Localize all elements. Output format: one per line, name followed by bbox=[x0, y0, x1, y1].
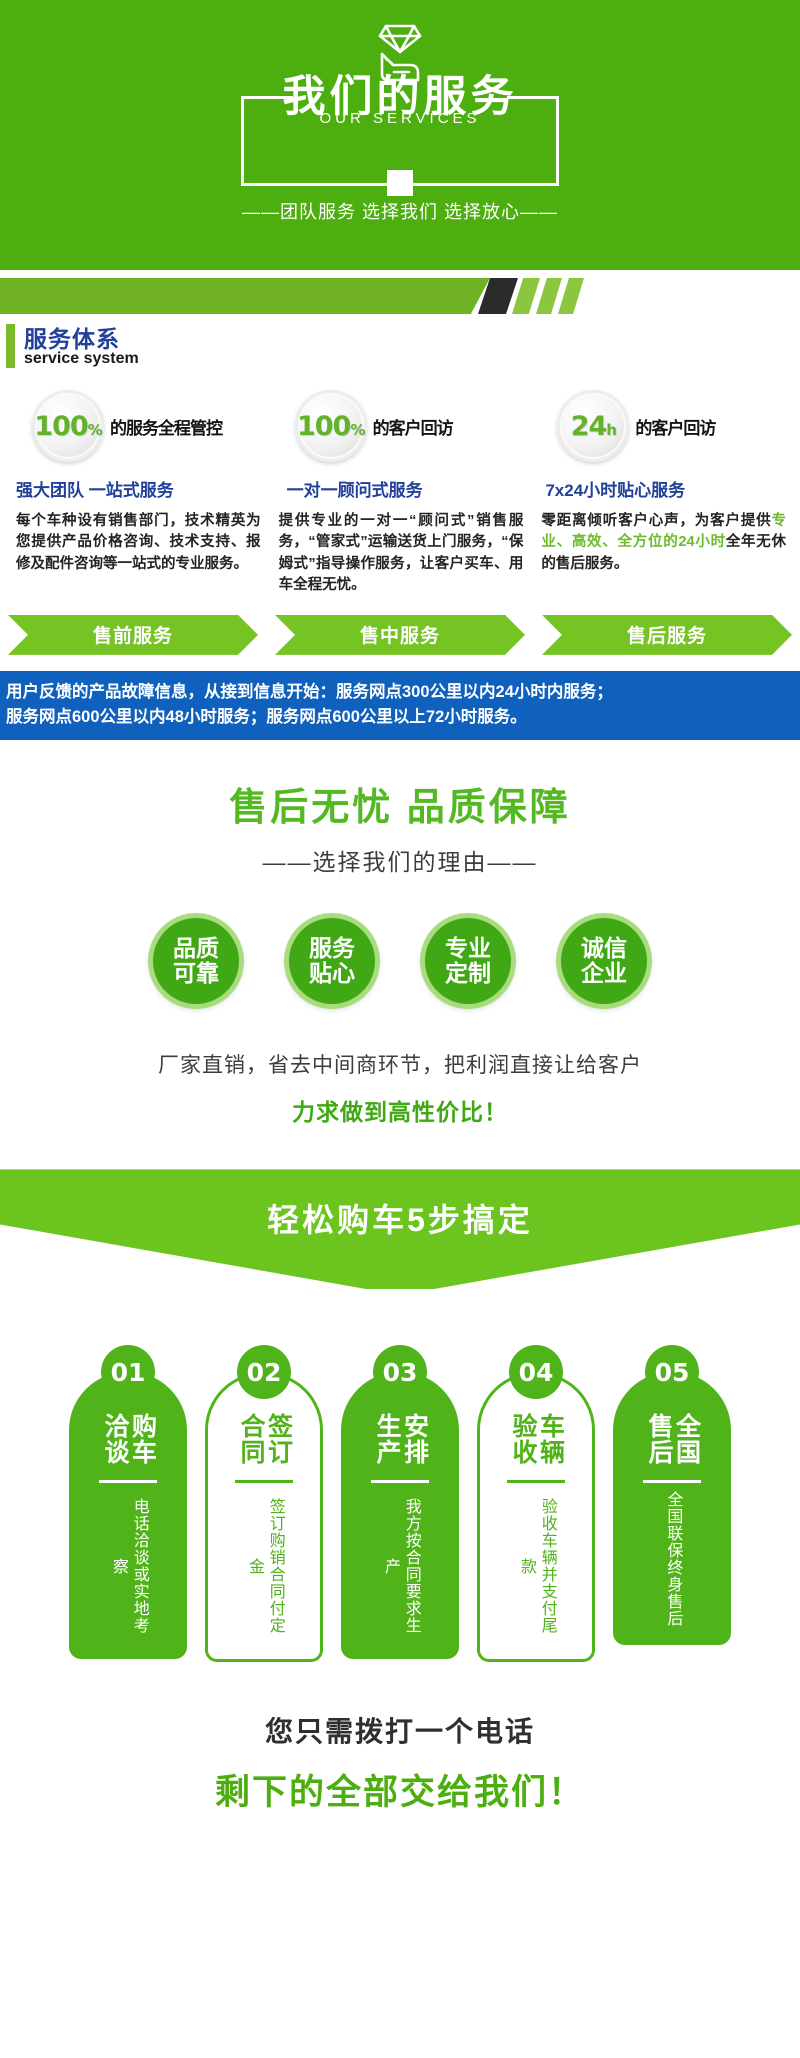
step-body-5: 全国售后 全国联保终身售后 bbox=[613, 1372, 731, 1645]
arrow-banner-label: 轻松购车5步搞定 bbox=[267, 1195, 533, 1241]
service-system-decor-bar bbox=[0, 278, 800, 314]
step-title-3: 安排生产 bbox=[373, 1408, 428, 1470]
decor-bar-green bbox=[0, 278, 450, 314]
step-body-1: 购车洽谈 电话洽谈或实地考察 bbox=[69, 1372, 187, 1659]
hero-frame-notch bbox=[387, 170, 413, 196]
service-column-3: 24h 的客户回访 7x24小时贴心服务 零距离倾听客户心声，为客户提供专业、高… bbox=[531, 388, 794, 597]
section-title-cn: 服务体系 bbox=[24, 320, 120, 354]
guarantee-title: 售后无忧 品质保障 bbox=[0, 776, 800, 831]
service-column-2: 100% 的客户回访 一对一顾问式服务 提供专业的一对一“顾问式”销售服务，“管… bbox=[269, 388, 532, 597]
metric-badge-caption-1: 的服务全程管控 bbox=[110, 414, 222, 439]
step-desc-5: 全国联保终身售后 bbox=[662, 1491, 683, 1627]
purchase-step-1[interactable]: 01 购车洽谈 电话洽谈或实地考察 bbox=[69, 1345, 187, 1662]
step-divider-1 bbox=[99, 1480, 157, 1483]
service-column-body-2: 提供专业的一对一“顾问式”销售服务，“管家式”运输送货上门服务，“保姆式”指导操… bbox=[273, 511, 528, 597]
metric-badge-caption-2: 的客户回访 bbox=[373, 414, 453, 439]
section-title-en: service system bbox=[24, 350, 139, 368]
guarantee-circle-1: 品质 可靠 bbox=[148, 913, 244, 1009]
pitch-line-2: 力求做到高性价比！ bbox=[0, 1093, 800, 1127]
step-desc-3: 我方按合同要求生产 bbox=[379, 1491, 421, 1641]
purchase-step-2[interactable]: 02 签订合同 签订购销合同付定金 bbox=[205, 1345, 323, 1662]
page-subtitle: OUR SERVICES bbox=[319, 110, 480, 127]
body-text-pre: 零距离倾听客户心声，为客户提供 bbox=[541, 513, 771, 529]
metric-badge-value-2: 100% bbox=[297, 411, 364, 442]
guarantee-circle-2: 服务 贴心 bbox=[284, 913, 380, 1009]
chevron-label-1: 售前服务 bbox=[93, 621, 173, 648]
step-title-4: 车辆验收 bbox=[509, 1408, 564, 1470]
guarantee-circle-4: 诚信 企业 bbox=[556, 913, 652, 1009]
decor-stripe-green-3 bbox=[558, 278, 584, 314]
step-number-2: 02 bbox=[237, 1345, 291, 1399]
step-body-2: 签订合同 签订购销合同付定金 bbox=[205, 1372, 323, 1662]
service-column-body-1: 每个车种设有销售部门，技术精英为您提供产品价格咨询、技术支持、报修及配件咨询等一… bbox=[10, 511, 265, 575]
footer-line-2: 剩下的全部交给我们！ bbox=[0, 1764, 800, 1815]
purchase-step-5[interactable]: 05 全国售后 全国联保终身售后 bbox=[613, 1345, 731, 1662]
circle-line-2a: 服务 bbox=[309, 936, 355, 962]
step-body-3: 安排生产 我方按合同要求生产 bbox=[341, 1372, 459, 1659]
badge-row-1: 100% 的服务全程管控 bbox=[10, 388, 265, 464]
service-system-heading: 服务体系 service system bbox=[0, 322, 800, 374]
purchase-steps-arrow-banner: 轻松购车5步搞定 bbox=[0, 1169, 800, 1289]
chevron-pre-sales[interactable]: 售前服务 bbox=[8, 615, 258, 655]
service-phase-chevrons: 售前服务 售中服务 售后服务 bbox=[0, 615, 800, 655]
badge-row-2: 100% 的客户回访 bbox=[273, 388, 528, 464]
pitch-line-1: 厂家直销，省去中间商环节，把利润直接让给客户 bbox=[0, 1049, 800, 1079]
response-time-notice: 用户反馈的产品故障信息，从接到信息开始：服务网点300公里以内24小时内服务； … bbox=[0, 671, 800, 741]
guarantee-subtitle: ——选择我们的理由—— bbox=[0, 843, 800, 877]
step-title-5: 全国售后 bbox=[645, 1408, 700, 1470]
hero-tagline: ——团队服务 选择我们 选择放心—— bbox=[242, 198, 558, 224]
guarantee-circle-3: 专业 定制 bbox=[420, 913, 516, 1009]
purchase-step-3[interactable]: 03 安排生产 我方按合同要求生产 bbox=[341, 1345, 459, 1662]
purchase-step-4[interactable]: 04 车辆验收 验收车辆并支付尾款 bbox=[477, 1345, 595, 1662]
metric-badge-value-1: 100% bbox=[34, 411, 101, 442]
purchase-steps: 01 购车洽谈 电话洽谈或实地考察 02 签订合同 签订购销合同付定金 03 安… bbox=[0, 1345, 800, 1662]
decor-stripe-green-2 bbox=[536, 278, 562, 314]
guarantee-circles: 品质 可靠 服务 贴心 专业 定制 诚信 企业 bbox=[0, 913, 800, 1009]
step-body-4: 车辆验收 验收车辆并支付尾款 bbox=[477, 1372, 595, 1662]
notice-line-1: 用户反馈的产品故障信息，从接到信息开始：服务网点300公里以内24小时内服务； bbox=[6, 680, 794, 705]
step-number-4: 04 bbox=[509, 1345, 563, 1399]
service-column-title-3: 7x24小时贴心服务 bbox=[535, 476, 790, 501]
service-column-1: 100% 的服务全程管控 强大团队 一站式服务 每个车种设有销售部门，技术精英为… bbox=[6, 388, 269, 597]
step-desc-4: 验收车辆并支付尾款 bbox=[515, 1491, 557, 1641]
circle-line-1a: 品质 bbox=[173, 936, 219, 962]
decor-stripe-green-1 bbox=[512, 278, 540, 314]
step-number-1: 01 bbox=[101, 1345, 155, 1399]
step-divider-3 bbox=[371, 1480, 429, 1483]
chevron-in-sales[interactable]: 售中服务 bbox=[275, 615, 525, 655]
step-number-5: 05 bbox=[645, 1345, 699, 1399]
service-column-body-3: 零距离倾听客户心声，为客户提供专业、高效、全方位的24小时全年无休的售后服务。 bbox=[535, 511, 790, 575]
step-number-3: 03 bbox=[373, 1345, 427, 1399]
metric-badge-3: 24h bbox=[557, 390, 629, 462]
circle-line-1b: 可靠 bbox=[173, 961, 219, 987]
step-divider-2 bbox=[235, 1480, 293, 1483]
body-text-highlight-2: 24小时 bbox=[678, 534, 725, 550]
metric-badge-caption-3: 的客户回访 bbox=[635, 414, 715, 439]
circle-line-4a: 诚信 bbox=[581, 936, 627, 962]
step-title-1: 购车洽谈 bbox=[101, 1408, 156, 1470]
service-column-title-2: 一对一顾问式服务 bbox=[273, 476, 528, 501]
step-divider-4 bbox=[507, 1480, 565, 1483]
service-columns: 100% 的服务全程管控 强大团队 一站式服务 每个车种设有销售部门，技术精英为… bbox=[0, 388, 800, 597]
metric-badge-value-3: 24h bbox=[571, 411, 616, 442]
circle-line-3a: 专业 bbox=[445, 936, 491, 962]
hero-banner: 我们的服务 OUR SERVICES ——团队服务 选择我们 选择放心—— bbox=[0, 0, 800, 270]
chevron-after-sales[interactable]: 售后服务 bbox=[542, 615, 792, 655]
step-desc-1: 电话洽谈或实地考察 bbox=[107, 1491, 149, 1641]
notice-line-2: 服务网点600公里以内48小时服务；服务网点600公里以上72小时服务。 bbox=[6, 705, 794, 730]
badge-row-3: 24h 的客户回访 bbox=[535, 388, 790, 464]
step-title-2: 签订合同 bbox=[237, 1408, 292, 1470]
chevron-label-2: 售中服务 bbox=[360, 621, 440, 648]
circle-line-4b: 企业 bbox=[581, 961, 627, 987]
chevron-label-3: 售后服务 bbox=[627, 621, 707, 648]
heading-accent-bar bbox=[6, 324, 15, 368]
circle-line-2b: 贴心 bbox=[309, 961, 355, 987]
step-desc-2: 签订购销合同付定金 bbox=[243, 1491, 285, 1641]
circle-line-3b: 定制 bbox=[445, 961, 491, 987]
service-column-title-1: 强大团队 一站式服务 bbox=[10, 476, 265, 501]
metric-badge-2: 100% bbox=[295, 390, 367, 462]
step-divider-5 bbox=[643, 1480, 701, 1483]
metric-badge-1: 100% bbox=[32, 390, 104, 462]
footer-line-1: 您只需拨打一个电话 bbox=[0, 1710, 800, 1750]
